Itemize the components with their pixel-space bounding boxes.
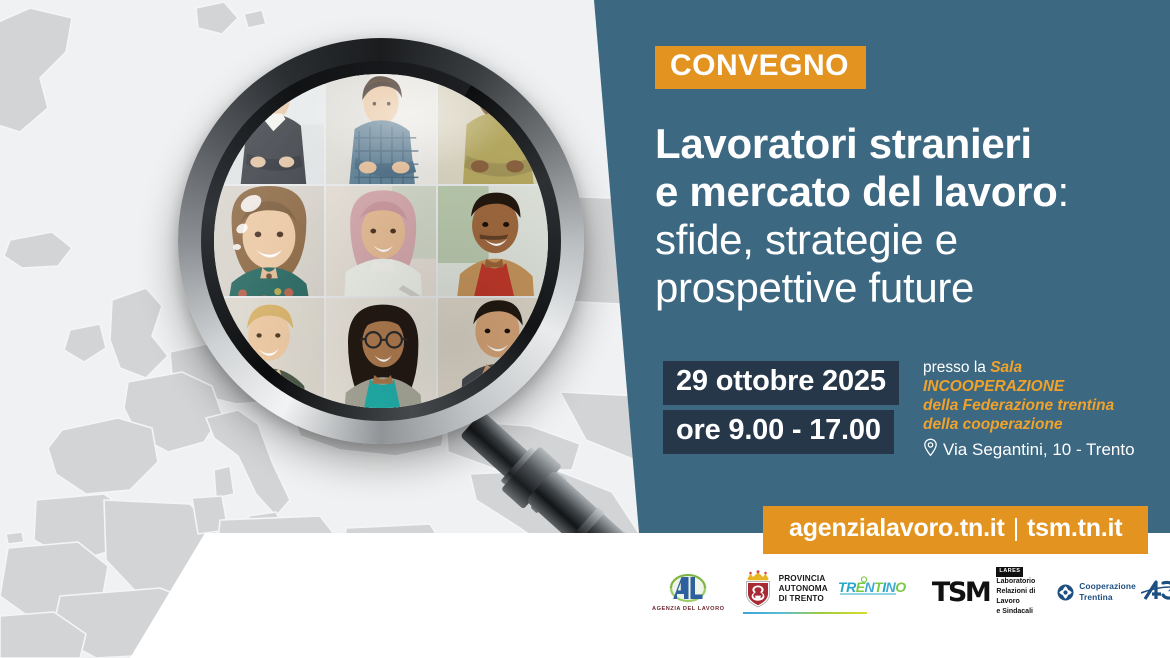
agenzia-del-lavoro-mark-icon bbox=[668, 573, 708, 604]
cooperazione-line-2: Trentina bbox=[1079, 592, 1136, 603]
logo-agenzia-del-lavoro: AGENZIA DEL LAVORO bbox=[652, 573, 725, 612]
trentino-wordmark-icon: TRENTINO bbox=[838, 576, 908, 601]
venue-info: presso la Sala INCOOPERAZIONE della Fede… bbox=[923, 358, 1168, 463]
cooperazione-emblem-icon bbox=[1057, 584, 1074, 601]
partner-logos: AGENZIA DEL LAVORO bbox=[652, 563, 1164, 621]
website-url-bar[interactable]: agenzialavoro.tn.it|tsm.tn.it bbox=[763, 506, 1148, 554]
venue-name-line-2: INCOOPERAZIONE bbox=[923, 378, 1064, 395]
provincia-line-1: PROVINCIA bbox=[779, 574, 828, 584]
convegno-badge: CONVEGNO bbox=[655, 46, 866, 89]
person-photo bbox=[326, 298, 436, 408]
person-photo bbox=[214, 186, 324, 296]
person-photo bbox=[438, 186, 548, 296]
logo-provincia-autonoma-di-trento: PROVINCIA AUTONOMA DI TRENTO TRENTINO bbox=[743, 570, 908, 614]
lares-line-1: Laboratorio bbox=[996, 578, 1035, 585]
title-line-4: prospettive future bbox=[655, 264, 974, 311]
location-pin-icon bbox=[923, 438, 938, 463]
person-photo bbox=[326, 186, 436, 296]
person-photo bbox=[438, 74, 548, 184]
person-photo bbox=[214, 298, 324, 408]
event-poster: CONVEGNO Lavoratori stranieri e mercato … bbox=[0, 0, 1170, 658]
venue-name-line-1: Sala bbox=[990, 359, 1022, 376]
poster-content: CONVEGNO Lavoratori stranieri e mercato … bbox=[655, 0, 1170, 533]
tsm-wordmark: TSM bbox=[932, 577, 990, 608]
lares-tag: LARES bbox=[996, 567, 1023, 577]
cooperazione-anniversary-mark bbox=[1141, 576, 1170, 609]
url-tsm[interactable]: tsm.tn.it bbox=[1027, 514, 1122, 542]
magnifier-lens bbox=[214, 74, 548, 408]
title-line-2: e mercato del lavoro bbox=[655, 168, 1058, 215]
event-datetime: 29 ottobre 2025 ore 9.00 - 17.00 bbox=[663, 361, 899, 454]
person-photo bbox=[214, 74, 324, 184]
title-colon: : bbox=[1058, 168, 1069, 215]
lares-line-2: Relazioni di Lavoro bbox=[996, 587, 1035, 607]
logo-tsm: TSM LARESLaboratorio Relazioni di Lavoro… bbox=[932, 567, 1035, 617]
title-line-1: Lavoratori stranieri bbox=[655, 120, 1032, 167]
event-time-badge: ore 9.00 - 17.00 bbox=[663, 410, 894, 454]
venue-prefix: presso la bbox=[923, 359, 990, 376]
agenzia-del-lavoro-caption: AGENZIA DEL LAVORO bbox=[652, 606, 725, 612]
url-agenzialavoro[interactable]: agenzialavoro.tn.it bbox=[789, 514, 1005, 542]
lares-text-block: LARESLaboratorio Relazioni di Lavoro e S… bbox=[996, 567, 1035, 617]
person-photo bbox=[438, 298, 548, 408]
provincia-line-2: AUTONOMA bbox=[779, 584, 828, 594]
cooperazione-text-block: Cooperazione Trentina bbox=[1079, 581, 1136, 603]
svg-text:TRENTINO: TRENTINO bbox=[838, 579, 906, 595]
provincia-gradient-rule bbox=[743, 612, 867, 614]
page-title: Lavoratori stranieri e mercato del lavor… bbox=[655, 120, 1155, 312]
venue-name-line-4: della cooperazione bbox=[923, 416, 1063, 433]
cooperazione-line-1: Cooperazione bbox=[1079, 581, 1136, 592]
venue-name-line-3: della Federazione trentina bbox=[923, 397, 1114, 414]
lares-line-3: e Sindacali bbox=[996, 607, 1035, 617]
event-date-badge: 29 ottobre 2025 bbox=[663, 361, 899, 405]
trentino-eagle-crest-icon bbox=[743, 570, 773, 608]
url-separator: | bbox=[1005, 514, 1027, 542]
logo-cooperazione-trentina: Cooperazione Trentina bbox=[1057, 576, 1170, 609]
people-photo-grid bbox=[214, 74, 548, 408]
provincia-text-block: PROVINCIA AUTONOMA DI TRENTO bbox=[779, 574, 828, 603]
venue-address: Via Segantini, 10 - Trento bbox=[943, 440, 1135, 461]
provincia-line-3: DI TRENTO bbox=[779, 594, 828, 604]
magnifying-glass-icon bbox=[178, 38, 584, 444]
title-line-3: sfide, strategie e bbox=[655, 216, 958, 263]
person-photo bbox=[326, 74, 436, 184]
